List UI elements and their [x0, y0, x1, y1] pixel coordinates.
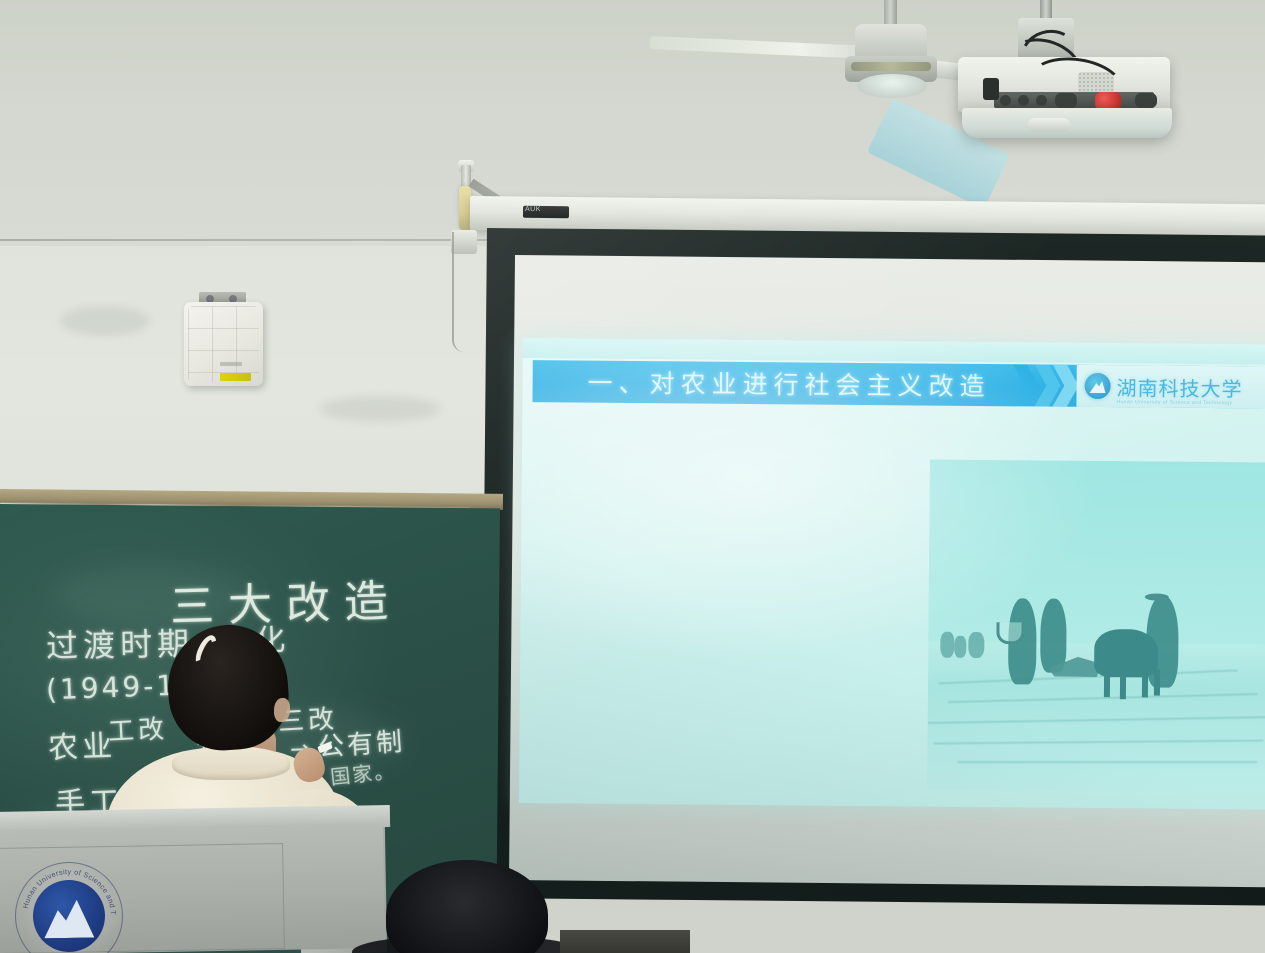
slide-brand-name-en: Hunan University of Science and Technolo…	[1116, 399, 1232, 406]
classroom-scene: AUK 一、对农业进行社会主义改造 湖南科技大学 Hunan Universit…	[0, 0, 1265, 953]
person-ear	[274, 698, 290, 722]
photo-basket	[996, 622, 1024, 644]
slide-title-bar: 一、对农业进行社会主义改造 湖南科技大学 Hunan University of…	[532, 360, 1265, 408]
projector-knob	[1000, 95, 1011, 106]
projected-slide: 一、对农业进行社会主义改造 湖南科技大学 Hunan University of…	[519, 338, 1265, 810]
wall-access-point[interactable]	[184, 302, 263, 386]
wall-access-point-label	[220, 373, 251, 381]
wall-access-point-mark	[220, 362, 242, 366]
wall-access-point-grille	[188, 306, 259, 382]
chalk-text-gonggai: 工改	[107, 708, 169, 748]
desk-edge	[560, 930, 690, 953]
chalk-text-period: 过渡时期	[46, 619, 195, 668]
slide-title: 一、对农业进行社会主义改造	[587, 364, 990, 404]
person-collar	[172, 746, 290, 780]
chevron-right-icon	[1012, 364, 1038, 406]
photo-sky	[928, 460, 1265, 648]
ceiling-fan-hub-ring	[851, 62, 931, 71]
slide-photo-farmers-plowing	[927, 460, 1265, 793]
slide-brand-plate: 湖南科技大学 Hunan University of Science and T…	[1076, 365, 1265, 409]
ceiling-fan-cap	[857, 74, 927, 98]
photo-figure	[1040, 599, 1067, 673]
mountain-circle-logo-icon	[1084, 373, 1110, 399]
projector-port	[1135, 93, 1157, 108]
ceiling-fan-downrod	[884, 0, 897, 26]
slide-chevron-group: 湖南科技大学 Hunan University of Science and T…	[1004, 364, 1265, 408]
slide-brand-name-cn: 湖南科技大学	[1116, 372, 1242, 402]
projector-cable-clip	[983, 78, 999, 100]
screen-brand-label: AUK	[525, 206, 541, 213]
projector-lens-plate	[1028, 118, 1070, 132]
chalk-text-nongye: 农业	[47, 721, 116, 767]
screen-power-cable	[452, 232, 464, 352]
photo-straw-hat	[1145, 593, 1169, 600]
chalk-text-heading: 三大改造	[169, 565, 403, 635]
projector-knob	[1018, 95, 1029, 106]
